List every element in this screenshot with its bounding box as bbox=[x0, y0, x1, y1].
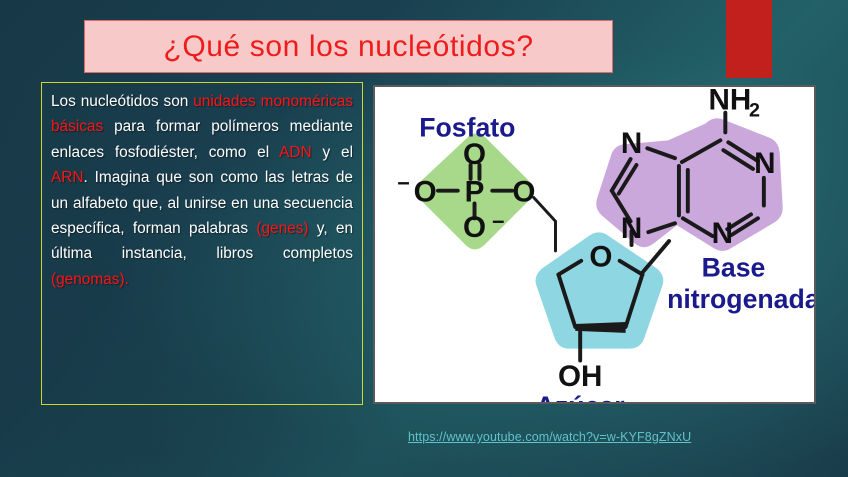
base-nitrogen-n7: N bbox=[621, 127, 642, 160]
label-azucar: Azúcar bbox=[536, 391, 625, 402]
amine-subscript: 2 bbox=[749, 100, 760, 122]
base-nitrogen-n9: N bbox=[621, 212, 642, 245]
body-highlight-text: ARN bbox=[51, 169, 84, 186]
body-highlight-text: (genomas). bbox=[51, 271, 129, 288]
phosphate-oxygen-bottom: O bbox=[463, 211, 486, 244]
phosphate-bottom-minus: − bbox=[492, 209, 505, 234]
body-plain-text: Los nucleótidos son bbox=[51, 93, 193, 110]
page-title: ¿Qué son los nucleótidos? bbox=[163, 30, 533, 64]
nucleotide-structure-svg: O P O O O − − bbox=[375, 87, 814, 402]
phosphorus-atom: P bbox=[465, 176, 485, 209]
sugar-ring-oxygen: O bbox=[589, 241, 612, 274]
phosphate-left-minus: − bbox=[397, 171, 410, 196]
phosphate-oxygen-top: O bbox=[463, 138, 486, 171]
body-highlight-text: ADN bbox=[279, 144, 312, 161]
body-text-box: Los nucleótidos son unidades monoméricas… bbox=[41, 82, 363, 405]
title-box: ¿Qué son los nucleótidos? bbox=[84, 20, 613, 73]
label-fosfato: Fosfato bbox=[419, 112, 515, 142]
slide: ¿Qué son los nucleótidos? Los nucleótido… bbox=[0, 0, 848, 477]
hydroxyl-label: OH bbox=[558, 360, 602, 393]
amine-label: NH bbox=[709, 87, 752, 117]
label-base-line2: nitrogenada bbox=[667, 284, 814, 314]
base-nitrogen-n1: N bbox=[754, 147, 775, 180]
label-base-line1: Base bbox=[702, 253, 766, 283]
red-accent-block bbox=[726, 0, 772, 78]
body-plain-text: y el bbox=[312, 144, 353, 161]
phosphate-oxygen-left: O bbox=[414, 176, 437, 209]
youtube-link[interactable]: https://www.youtube.com/watch?v=w-KYF8gZ… bbox=[408, 430, 691, 444]
body-highlight-text: (genes) bbox=[256, 220, 308, 237]
phosphate-oxygen-right: O bbox=[512, 176, 535, 209]
nucleotide-diagram-figure: O P O O O − − bbox=[373, 85, 816, 404]
base-nitrogen-n3: N bbox=[712, 217, 733, 250]
body-paragraph: Los nucleótidos son unidades monoméricas… bbox=[51, 89, 353, 292]
